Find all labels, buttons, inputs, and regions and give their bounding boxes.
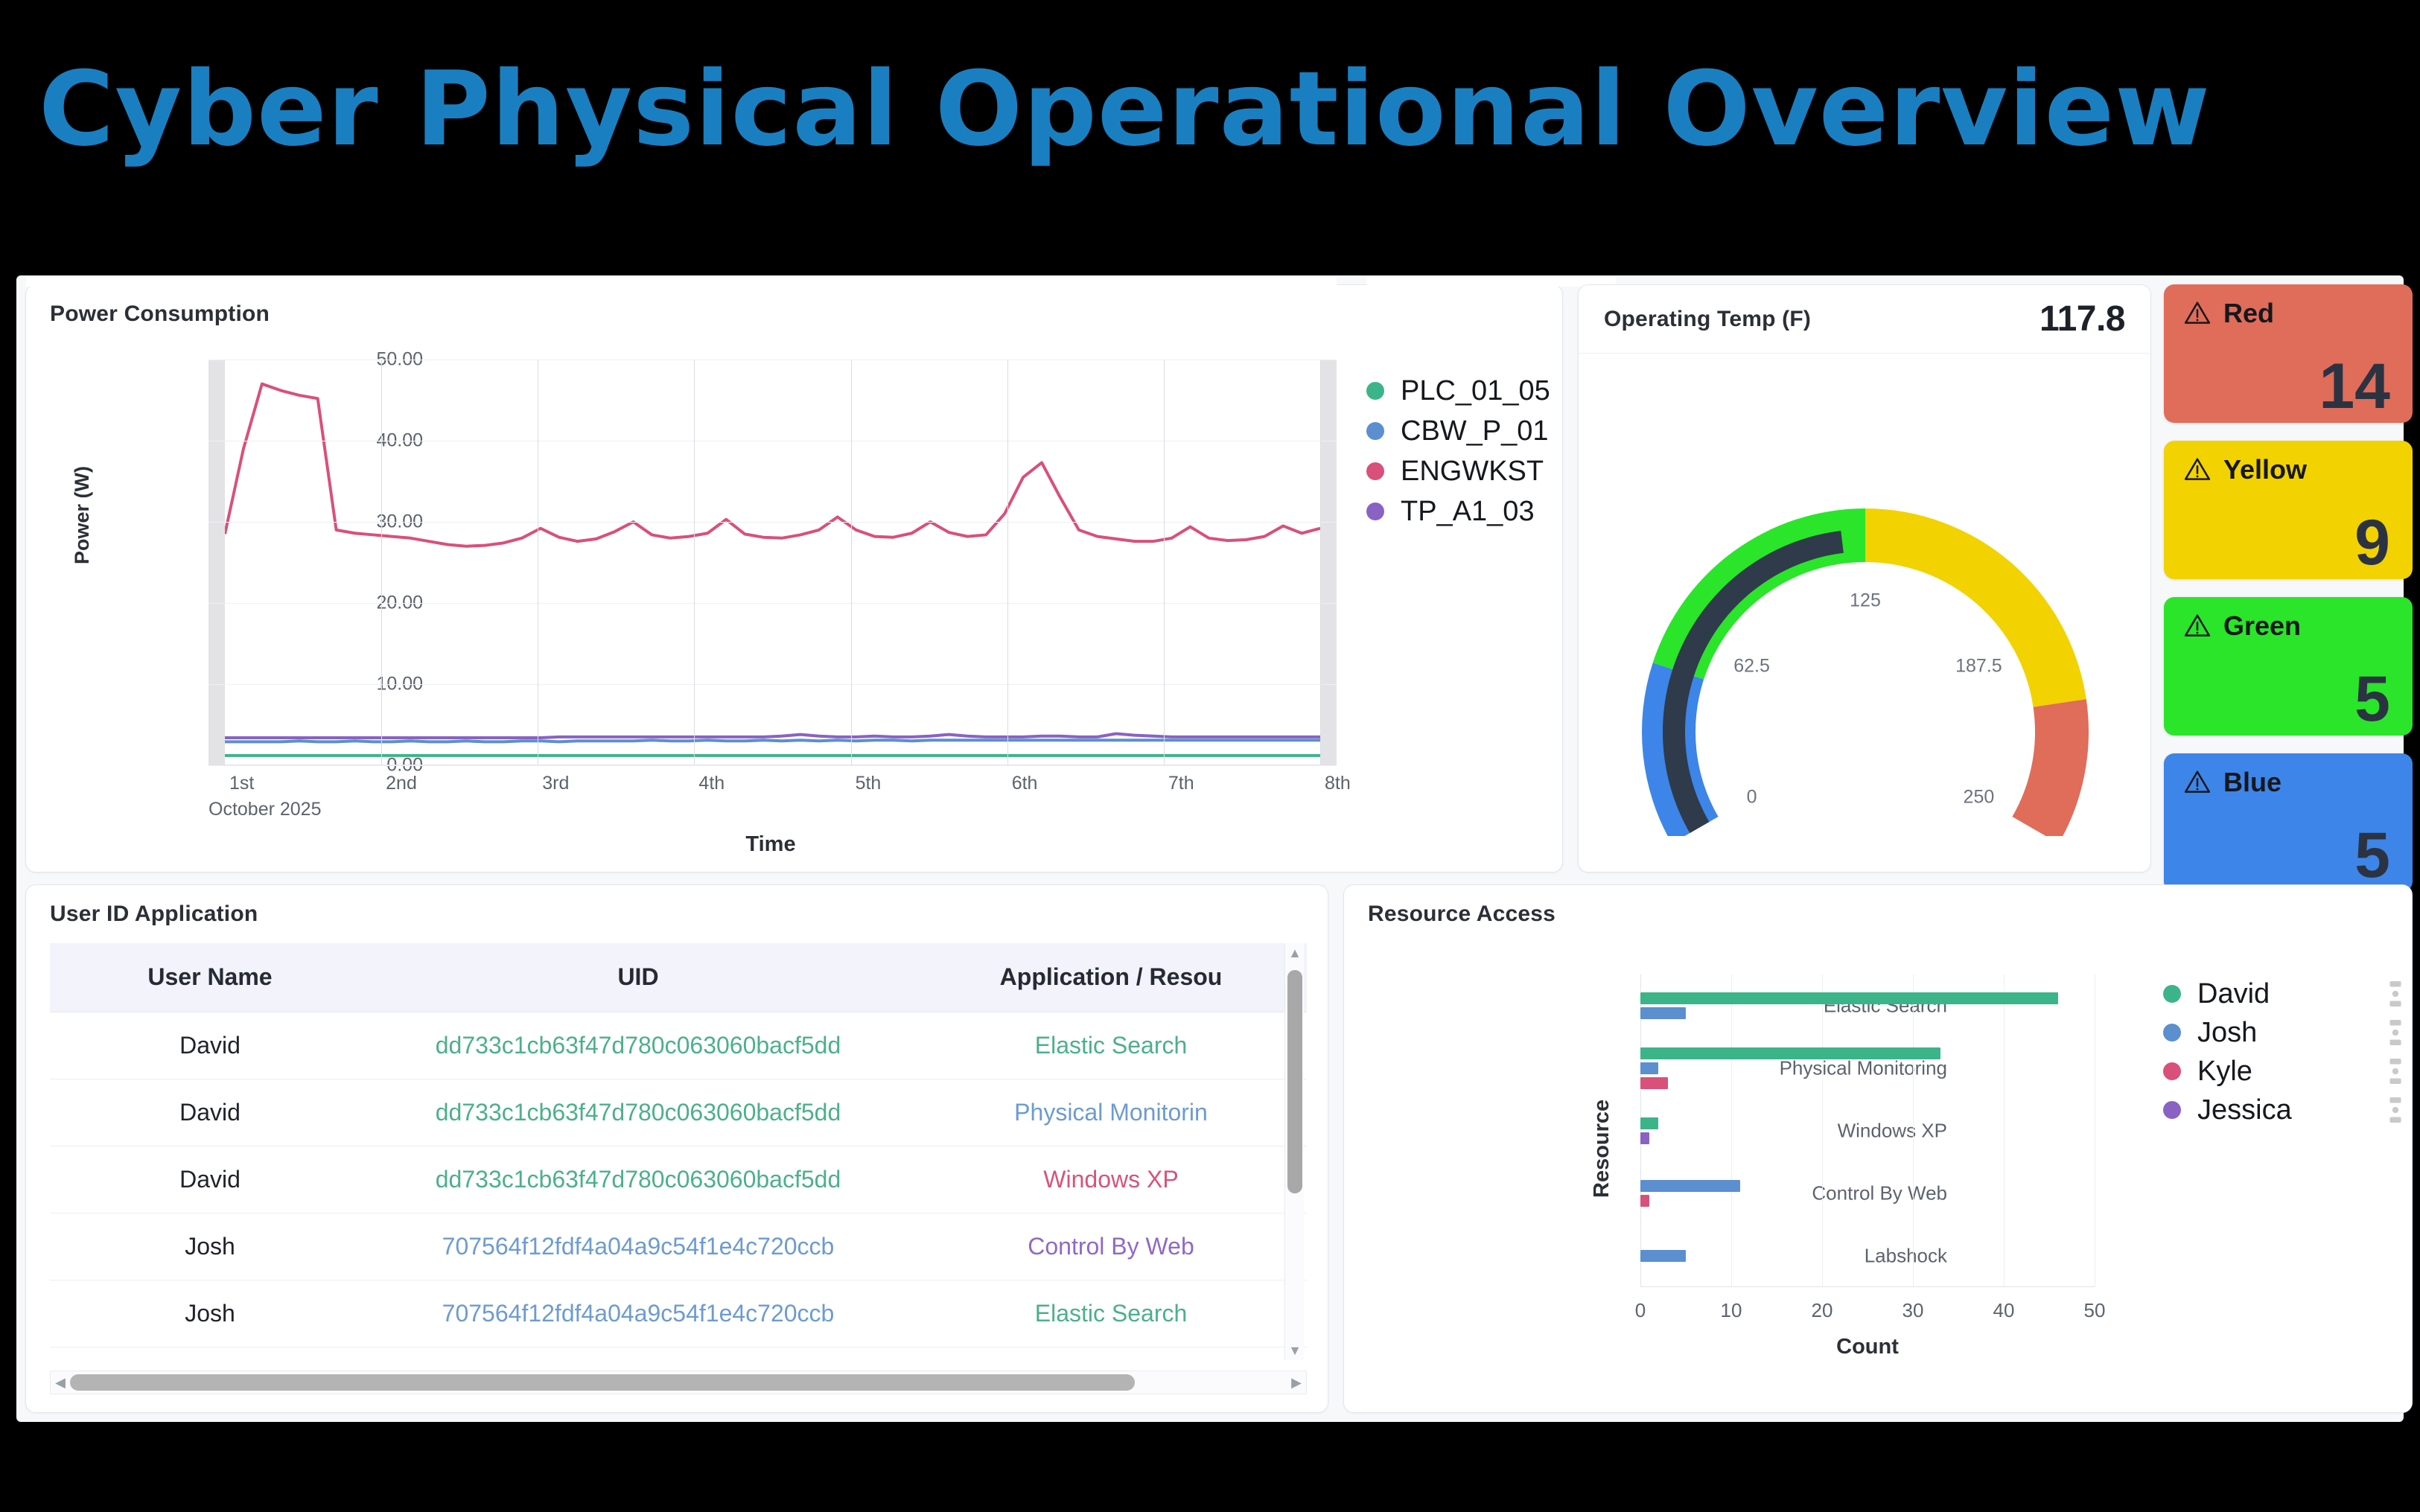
status-card-green[interactable]: Green5: [2164, 597, 2413, 736]
bar-segment[interactable]: [1640, 1132, 1649, 1144]
gridline: [208, 684, 1337, 685]
status-card-header: Red: [2164, 284, 2413, 329]
resource-x-tick: 20: [1812, 1299, 1833, 1322]
gauge-band: [1865, 508, 2086, 707]
legend-item[interactable]: Josh: [2163, 1013, 2401, 1052]
power-x-tick: 7th: [1168, 773, 1194, 794]
gridline: [694, 360, 695, 765]
user-table-body: Daviddd733c1cb63f47d780c063060bacf5ddEla…: [50, 1012, 1307, 1347]
user-table-viewport[interactable]: User Name UID Application / Resou Davidd…: [50, 943, 1307, 1360]
gridline: [1007, 360, 1008, 765]
gauge-chart: 062.5125187.5250: [1579, 360, 2152, 836]
gauge-tick-label: 62.5: [1733, 656, 1770, 677]
legend-color-dot-icon: [1366, 462, 1384, 480]
power-plot-area: [208, 360, 1337, 765]
table-row[interactable]: Daviddd733c1cb63f47d780c063060bacf5ddWin…: [50, 1146, 1307, 1213]
status-card-header: Yellow: [2164, 441, 2413, 485]
power-x-tick: 2nd: [386, 773, 417, 794]
resource-x-tick: 30: [1902, 1299, 1924, 1322]
cell-application: Elastic Search: [906, 1012, 1307, 1079]
cell-user-name: David: [50, 1012, 370, 1079]
table-row[interactable]: Daviddd733c1cb63f47d780c063060bacf5ddPhy…: [50, 1079, 1307, 1146]
gauge-title: Operating Temp (F): [1604, 307, 1811, 332]
panel-seam-left: [26, 276, 1337, 287]
page-title: Cyber Physical Operational Overview: [39, 58, 2384, 161]
bar-segment[interactable]: [1640, 1047, 1940, 1059]
gridline: [1320, 360, 1321, 765]
power-line-series: [208, 360, 1337, 765]
legend-item[interactable]: ENGWKST: [1366, 451, 1550, 491]
resource-plot-frame: [1640, 974, 2095, 1287]
status-card-label: Green: [2223, 610, 2301, 642]
bar-segment[interactable]: [1640, 1250, 1686, 1262]
warning-triangle-icon: [2183, 456, 2212, 484]
cell-application: Physical Monitorin: [906, 1079, 1307, 1146]
status-card-count: 5: [2354, 667, 2390, 731]
plot-left-band: [208, 360, 225, 765]
user-table-header-row: User Name UID Application / Resou: [50, 943, 1307, 1012]
legend-item-label: Josh: [2197, 1017, 2389, 1049]
table-row[interactable]: Daviddd733c1cb63f47d780c063060bacf5ddEla…: [50, 1012, 1307, 1079]
resource-x-tick: 0: [1635, 1299, 1646, 1322]
gauge-tick-label: 125: [1850, 590, 1881, 612]
power-y-axis-label: Power (W): [71, 466, 94, 564]
resource-access-card: Resource Access Resource Elastic SearchP…: [1343, 884, 2413, 1413]
user-id-application-card: User ID Application User Name UID Applic…: [25, 884, 1328, 1413]
power-x-tick: 1st: [229, 773, 254, 794]
gridline: [208, 603, 1337, 604]
gauge-band: [2012, 699, 2089, 836]
scroll-up-arrow-icon[interactable]: ▲: [1285, 943, 1305, 963]
power-x-tick: 4th: [698, 773, 725, 794]
gridline: [2095, 974, 2095, 1287]
legend-color-dot-icon: [2163, 1062, 2181, 1080]
table-row[interactable]: Josh707564f12fdf4a04a9c54f1e4c720ccbElas…: [50, 1280, 1307, 1347]
resource-x-tick: 40: [1993, 1299, 2015, 1322]
legend-color-dot-icon: [2163, 985, 2181, 1003]
status-card-label: Red: [2223, 298, 2274, 329]
cell-user-name: Josh: [50, 1280, 370, 1347]
power-card-title: Power Consumption: [50, 302, 270, 327]
legend-item-label: PLC_01_05: [1401, 375, 1550, 407]
bar-segment[interactable]: [1640, 1180, 1740, 1192]
user-table-title: User ID Application: [50, 902, 258, 927]
bar-segment[interactable]: [1640, 1077, 1668, 1089]
bar-segment[interactable]: [1640, 1117, 1658, 1129]
status-card-label: Yellow: [2223, 454, 2307, 485]
legend-color-dot-icon: [1366, 503, 1384, 520]
status-card-red[interactable]: Red14: [2164, 284, 2413, 423]
gridline: [381, 360, 382, 765]
user-table-head: User Name UID Application / Resou: [50, 943, 1307, 1012]
legend-item[interactable]: CBW_P_01: [1366, 411, 1550, 451]
gauge-tick-label: 0: [1747, 787, 1757, 808]
cell-uid: dd733c1cb63f47d780c063060bacf5dd: [370, 1146, 906, 1213]
legend-item-label: Kyle: [2197, 1056, 2389, 1088]
cell-uid: dd733c1cb63f47d780c063060bacf5dd: [370, 1079, 906, 1146]
gridline: [538, 360, 538, 765]
horizontal-scroll-thumb[interactable]: [70, 1374, 1135, 1391]
warning-triangle-icon: [2183, 768, 2212, 797]
legend-item-label: CBW_P_01: [1401, 415, 1549, 447]
status-card-count: 5: [2354, 823, 2390, 887]
power-x-tick: 6th: [1012, 773, 1038, 794]
cell-application: Control By Web: [906, 1213, 1307, 1280]
cell-uid: 707564f12fdf4a04a9c54f1e4c720ccb: [370, 1213, 906, 1280]
legend-color-dot-icon: [2163, 1101, 2181, 1119]
power-x-axis-label: Time: [26, 832, 1515, 857]
plot-right-band: [1320, 360, 1337, 765]
status-card-count: 9: [2354, 511, 2390, 575]
resource-x-tick: 10: [1721, 1299, 1742, 1322]
legend-item[interactable]: Kyle: [2163, 1052, 2401, 1091]
user-table: User Name UID Application / Resou Davidd…: [50, 943, 1307, 1347]
bar-segment[interactable]: [1640, 1062, 1658, 1074]
power-x-subcaption: October 2025: [208, 799, 322, 820]
power-x-tick: 5th: [856, 773, 882, 794]
warning-triangle-icon: [2183, 299, 2212, 328]
legend-color-dot-icon: [2163, 1024, 2181, 1042]
power-consumption-card: Power Consumption Power (W) 0.0010.0020.…: [25, 284, 1563, 873]
legend-item-label: TP_A1_03: [1401, 496, 1535, 528]
gridline: [208, 522, 1337, 523]
resource-x-axis-label: Count: [1640, 1335, 2095, 1359]
bar-segment[interactable]: [1640, 992, 2058, 1004]
cell-user-name: Josh: [50, 1213, 370, 1280]
operating-temp-card: Operating Temp (F) 117.8 062.5125187.525…: [1578, 284, 2151, 873]
gridline: [208, 360, 1337, 360]
resource-x-tick: 50: [2084, 1299, 2106, 1322]
cell-user-name: David: [50, 1079, 370, 1146]
legend-item-label: ENGWKST: [1401, 456, 1544, 488]
gridline: [851, 360, 852, 765]
power-x-tick: 3rd: [542, 773, 569, 794]
series-line: [225, 740, 1320, 741]
resource-y-axis-label: Resource: [1590, 1100, 1614, 1198]
cell-user-name: David: [50, 1146, 370, 1213]
legend-item-label: Jessica: [2197, 1094, 2389, 1126]
resource-legend: DavidJoshKyleJessica: [2163, 974, 2401, 1129]
status-card-yellow[interactable]: Yellow9: [2164, 441, 2413, 579]
gridline: [1164, 360, 1165, 765]
gauge-value: 117.8: [2040, 299, 2125, 339]
power-axis-baseline: [208, 765, 1337, 765]
legend-options-handle-icon[interactable]: [2389, 1097, 2401, 1123]
resource-card-title: Resource Access: [1368, 902, 1556, 927]
legend-options-handle-icon[interactable]: [2389, 1059, 2401, 1084]
legend-color-dot-icon: [1366, 422, 1384, 440]
table-row[interactable]: Josh707564f12fdf4a04a9c54f1e4c720ccbCont…: [50, 1213, 1307, 1280]
scroll-left-arrow-icon[interactable]: ◀: [51, 1371, 70, 1394]
status-card-count: 14: [2319, 354, 2390, 418]
dashboard-surface: Power Consumption Power (W) 0.0010.0020.…: [16, 275, 2404, 1422]
cell-uid: 707564f12fdf4a04a9c54f1e4c720ccb: [370, 1280, 906, 1347]
power-x-tick: 8th: [1325, 773, 1351, 794]
scroll-down-arrow-icon[interactable]: ▼: [1285, 1341, 1305, 1360]
legend-item-label: David: [2197, 978, 2389, 1010]
cell-uid: dd733c1cb63f47d780c063060bacf5dd: [370, 1012, 906, 1079]
legend-options-handle-icon[interactable]: [2389, 981, 2401, 1007]
legend-item[interactable]: PLC_01_05: [1366, 371, 1550, 411]
column-header-uid[interactable]: UID: [370, 943, 906, 1012]
legend-options-handle-icon[interactable]: [2389, 1020, 2401, 1045]
gridline: [208, 441, 1337, 441]
user-table-vertical-scrollbar[interactable]: ▲ ▼: [1284, 943, 1304, 1360]
status-card-header: Blue: [2164, 753, 2413, 798]
power-legend: PLC_01_05CBW_P_01ENGWKSTTP_A1_03: [1366, 371, 1550, 532]
legend-item[interactable]: TP_A1_03: [1366, 491, 1550, 532]
status-card-header: Green: [2164, 597, 2413, 642]
bar-segment[interactable]: [1640, 1195, 1649, 1207]
gauge-tick-label: 187.5: [1955, 656, 2002, 677]
legend-item[interactable]: David: [2163, 974, 2401, 1013]
screen-root: Cyber Physical Operational Overview Powe…: [0, 0, 2420, 1512]
bar-segment[interactable]: [1640, 1007, 1686, 1019]
legend-color-dot-icon: [1366, 382, 1384, 400]
resource-plot-area: [1640, 974, 2095, 1287]
legend-item[interactable]: Jessica: [2163, 1091, 2401, 1129]
vertical-scroll-thumb[interactable]: [1287, 970, 1302, 1193]
gauge-tick-label: 250: [1964, 787, 1995, 808]
status-card-blue[interactable]: Blue5: [2164, 753, 2413, 892]
user-table-horizontal-scrollbar[interactable]: ◀ ▶: [50, 1371, 1307, 1394]
status-card-label: Blue: [2223, 767, 2282, 798]
column-header-user-name[interactable]: User Name: [50, 943, 370, 1012]
warning-triangle-icon: [2183, 612, 2212, 640]
gauge-header: Operating Temp (F) 117.8: [1579, 285, 2150, 354]
series-line: [225, 733, 1320, 737]
cell-application: Elastic Search: [906, 1280, 1307, 1347]
scroll-right-arrow-icon[interactable]: ▶: [1287, 1371, 1306, 1394]
cell-application: Windows XP: [906, 1146, 1307, 1213]
column-header-application[interactable]: Application / Resou: [906, 943, 1307, 1012]
gridline: [208, 765, 1337, 766]
